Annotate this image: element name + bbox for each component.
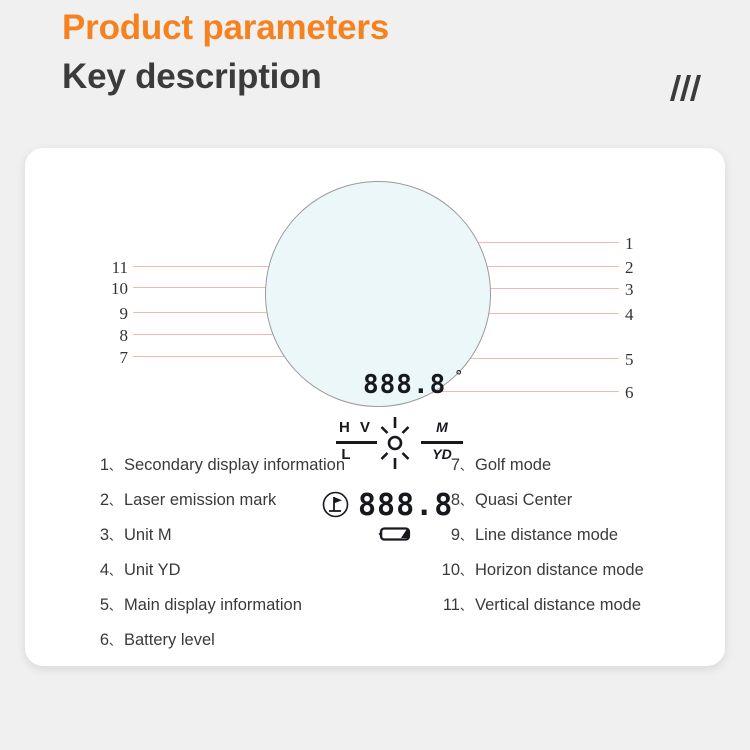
callout-number-4: 4 — [625, 306, 655, 323]
legend-label: Quasi Center — [475, 491, 572, 510]
legend-item-6: 6 、 Battery level — [85, 623, 415, 658]
legend-number: 3 — [85, 526, 109, 545]
callout-number-8: 8 — [98, 327, 128, 344]
legend-item-8: 8 、 Quasi Center — [430, 483, 720, 518]
legend-item-3: 3 、 Unit M — [85, 518, 415, 553]
legend-item-2: 2 、 Laser emission mark — [85, 483, 415, 518]
legend-separator: 、 — [109, 597, 124, 614]
legend-label: Unit M — [124, 526, 172, 545]
legend-label: Battery level — [124, 631, 215, 650]
page-header: Product parameters Key description — [0, 0, 750, 148]
legend-label: Main display information — [124, 596, 302, 615]
legend-item-11: 11 、 Vertical distance mode — [430, 588, 720, 623]
legend-column-right: 7 、 Golf mode 8 、 Quasi Center 9 、 Line … — [430, 448, 720, 623]
legend-column-left: 1 、 Secondary display information 2 、 La… — [85, 448, 415, 658]
legend-separator: 、 — [109, 562, 124, 579]
legend-item-9: 9 、 Line distance mode — [430, 518, 720, 553]
legend-label: Golf mode — [475, 456, 551, 475]
triple-slash-icon — [660, 73, 708, 103]
callout-number-10: 10 — [98, 280, 128, 297]
legend-separator: 、 — [109, 632, 124, 649]
legend-separator: 、 — [109, 457, 124, 474]
page-subtitle: Key description — [62, 57, 322, 97]
legend-list: 1 、 Secondary display information 2 、 La… — [25, 448, 725, 666]
legend-number: 4 — [85, 561, 109, 580]
callout-number-6: 6 — [625, 384, 655, 401]
distance-mode-divider — [336, 441, 377, 444]
legend-label: Vertical distance mode — [475, 596, 641, 615]
secondary-display-value: 888.8 — [363, 370, 446, 400]
callout-number-11: 11 — [98, 259, 128, 276]
legend-number: 6 — [85, 631, 109, 650]
callout-number-9: 9 — [98, 305, 128, 322]
callout-number-5: 5 — [625, 351, 655, 368]
key-description-card: 11 10 9 8 7 1 2 3 4 5 6 888.8 ° H V L — [25, 148, 725, 666]
legend-label: Horizon distance mode — [475, 561, 644, 580]
page-title: Product parameters — [62, 8, 389, 48]
legend-item-10: 10 、 Horizon distance mode — [430, 553, 720, 588]
legend-number: 8 — [430, 491, 460, 510]
legend-number: 11 — [430, 596, 460, 615]
degree-symbol: ° — [455, 367, 463, 385]
legend-separator: 、 — [109, 527, 124, 544]
legend-item-1: 1 、 Secondary display information — [85, 448, 415, 483]
legend-label: Line distance mode — [475, 526, 618, 545]
unit-divider — [421, 441, 463, 444]
legend-separator: 、 — [109, 492, 124, 509]
unit-m-label: M — [419, 419, 465, 435]
legend-separator: 、 — [460, 492, 475, 509]
lcd-diagram: 11 10 9 8 7 1 2 3 4 5 6 888.8 ° H V L — [25, 148, 725, 438]
callout-number-7: 7 — [98, 349, 128, 366]
legend-number: 10 — [430, 561, 460, 580]
legend-number: 5 — [85, 596, 109, 615]
callout-number-2: 2 — [625, 259, 655, 276]
legend-item-5: 5 、 Main display information — [85, 588, 415, 623]
legend-separator: 、 — [460, 457, 475, 474]
legend-item-4: 4 、 Unit YD — [85, 553, 415, 588]
legend-separator: 、 — [460, 562, 475, 579]
legend-number: 7 — [430, 456, 460, 475]
legend-label: Unit YD — [124, 561, 181, 580]
legend-label: Laser emission mark — [124, 491, 276, 510]
legend-item-7: 7 、 Golf mode — [430, 448, 720, 483]
legend-number: 9 — [430, 526, 460, 545]
legend-separator: 、 — [460, 597, 475, 614]
legend-number: 2 — [85, 491, 109, 510]
legend-label: Secondary display information — [124, 456, 345, 475]
callout-number-3: 3 — [625, 281, 655, 298]
legend-separator: 、 — [460, 527, 475, 544]
callout-number-1: 1 — [625, 235, 655, 252]
legend-number: 1 — [85, 456, 109, 475]
leader-line-1 — [468, 242, 619, 243]
